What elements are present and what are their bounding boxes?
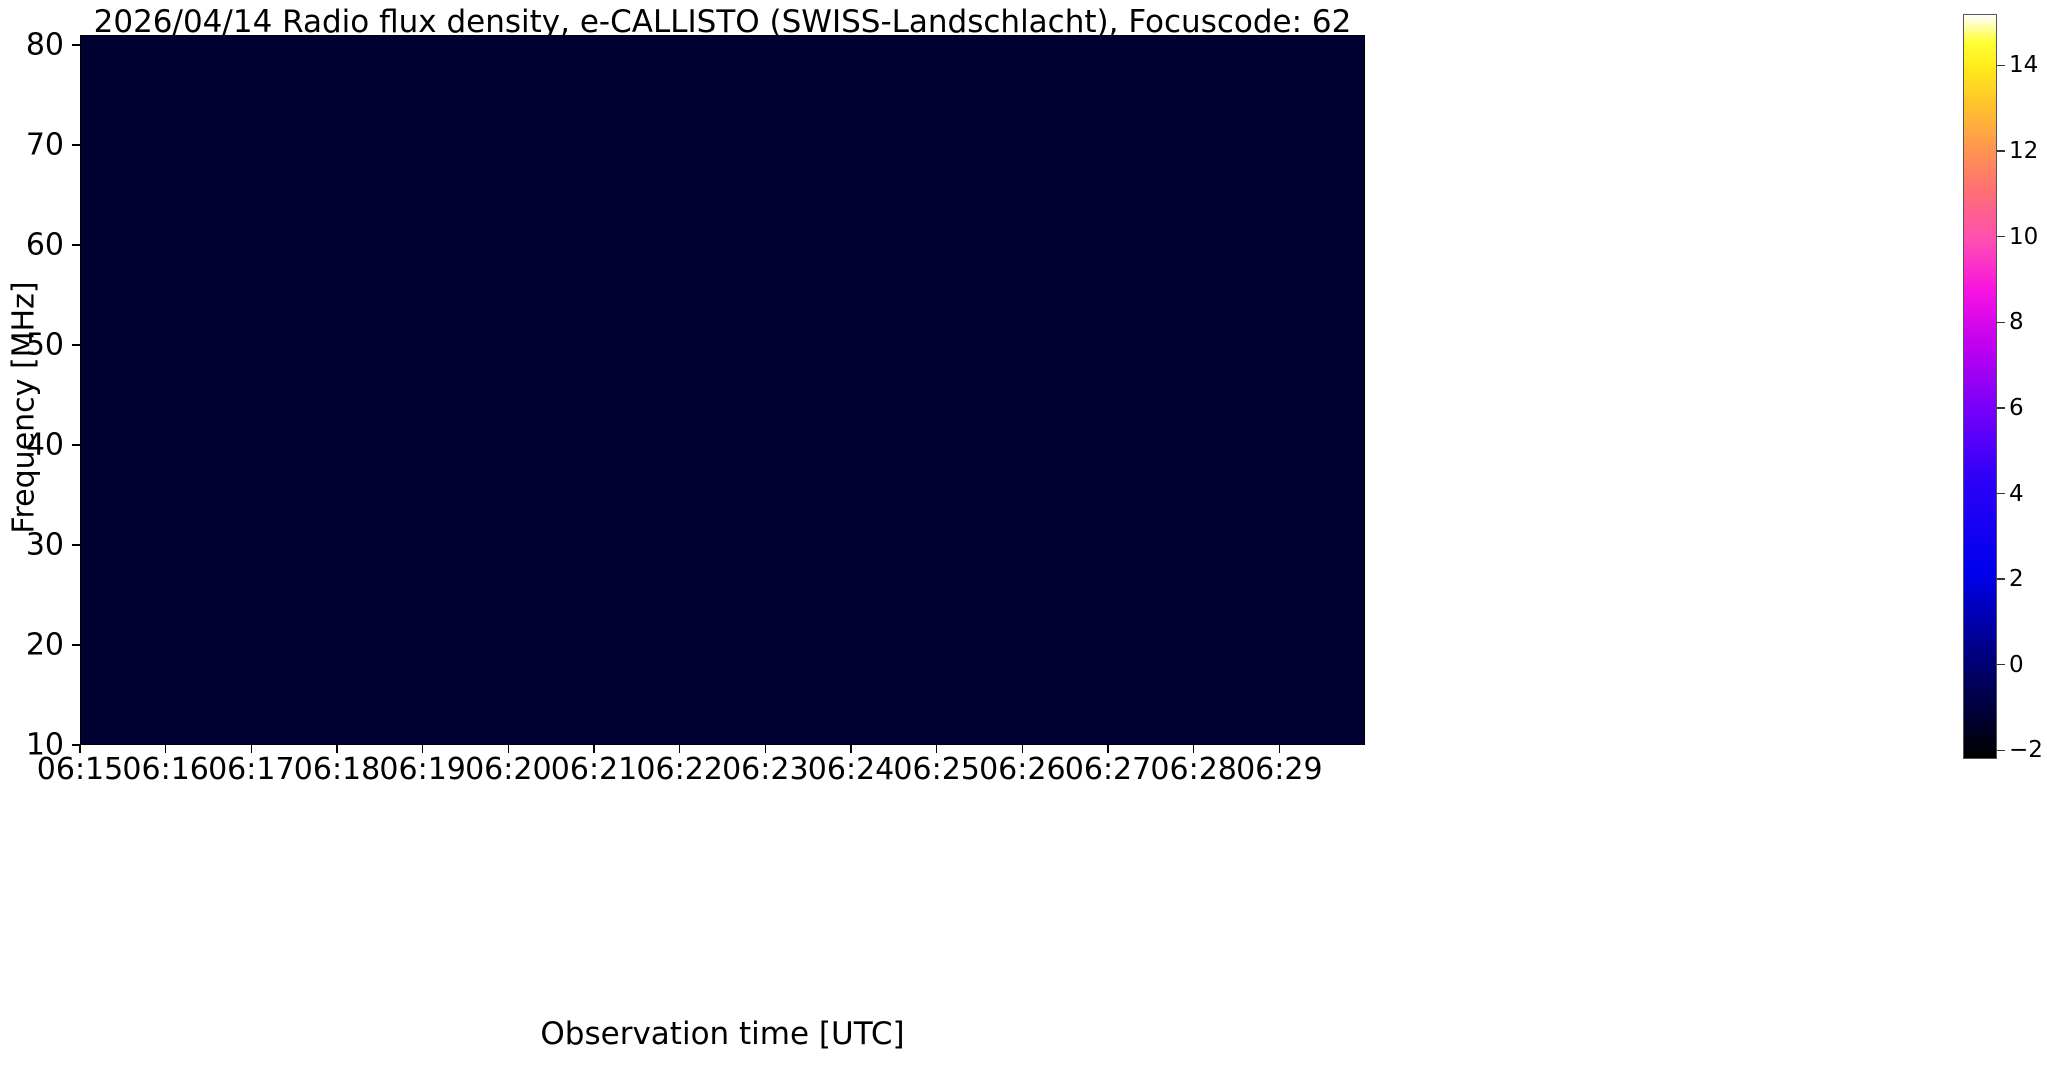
x-tick-label: 06:19 [379, 752, 465, 787]
y-tick-label: 30 [0, 528, 64, 563]
x-tick-label: 06:28 [1150, 752, 1236, 787]
colorbar-tick-mark [1997, 578, 2005, 579]
y-tick-mark [72, 544, 80, 545]
colorbar-tick-mark [1997, 407, 2005, 408]
x-tick-label: 06:24 [808, 752, 894, 787]
x-tick-label: 06:26 [979, 752, 1065, 787]
colorbar-tick-label: −2 [2009, 737, 2043, 763]
x-tick-label: 06:20 [465, 752, 551, 787]
y-axis-label: Frequency [MHz] [7, 128, 42, 688]
x-tick-label: 06:29 [1236, 752, 1322, 787]
x-tick-label: 06:27 [1065, 752, 1151, 787]
y-tick-mark [72, 44, 80, 45]
x-tick-label: 06:16 [122, 752, 208, 787]
x-tick-label: 06:23 [722, 752, 808, 787]
x-tick-label: 06:22 [636, 752, 722, 787]
colorbar-tick-mark [1997, 664, 2005, 665]
y-tick-mark [72, 644, 80, 645]
spectrogram-figure: 2026/04/14 Radio flux density, e-CALLIST… [0, 0, 2047, 1067]
colorbar-tick-mark [1997, 150, 2005, 151]
spectrogram-plot-area [80, 35, 1365, 745]
y-tick-label: 20 [0, 628, 64, 663]
x-axis-label: Observation time [UTC] [80, 1016, 1365, 1052]
y-tick-mark [72, 444, 80, 445]
x-tick-label: 06:17 [208, 752, 294, 787]
y-tick-mark [72, 144, 80, 145]
colorbar-gradient [1964, 15, 1996, 758]
colorbar-tick-label: 2 [2009, 566, 2024, 592]
colorbar-tick-label: 4 [2009, 481, 2024, 507]
spectrogram-image [81, 36, 1364, 744]
colorbar-tick-label: 12 [2009, 138, 2038, 164]
colorbar-tick-label: 14 [2009, 52, 2038, 78]
y-tick-mark [72, 344, 80, 345]
x-tick-label: 06:21 [551, 752, 637, 787]
y-tick-label: 50 [0, 328, 64, 363]
y-tick-label: 40 [0, 428, 64, 463]
colorbar-tick-mark [1997, 750, 2005, 751]
colorbar-tick-label: 10 [2009, 224, 2038, 250]
x-tick-label: 06:18 [294, 752, 380, 787]
colorbar-tick-label: 6 [2009, 395, 2024, 421]
y-tick-mark [72, 244, 80, 245]
colorbar-tick-mark [1997, 322, 2005, 323]
y-tick-label: 60 [0, 228, 64, 263]
y-tick-label: 70 [0, 128, 64, 163]
colorbar-tick-mark [1997, 493, 2005, 494]
y-tick-label: 80 [0, 28, 64, 63]
x-tick-label: 06:15 [37, 752, 123, 787]
colorbar-tick-label: 8 [2009, 309, 2024, 335]
colorbar-tick-mark [1997, 65, 2005, 66]
colorbar [1963, 14, 1997, 759]
colorbar-tick-label: 0 [2009, 652, 2024, 678]
colorbar-tick-mark [1997, 236, 2005, 237]
x-tick-label: 06:25 [893, 752, 979, 787]
